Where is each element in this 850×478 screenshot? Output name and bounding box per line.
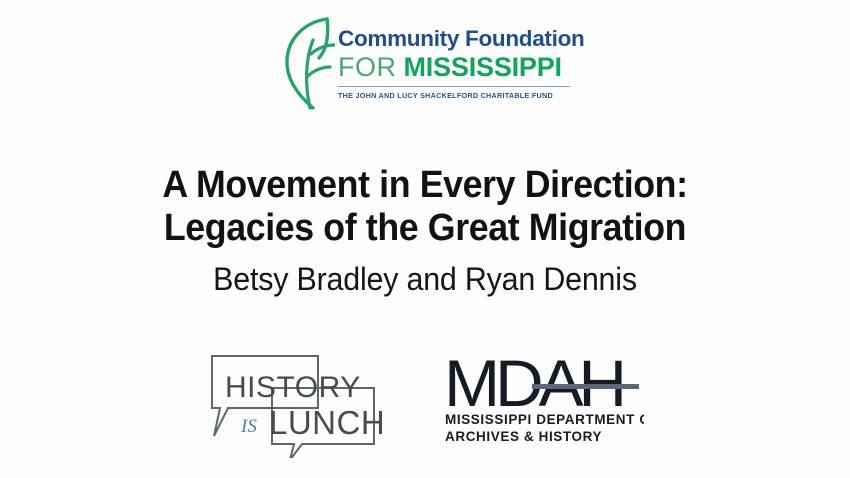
mdah-subtitle-line-2: ARCHIVES & HISTORY bbox=[445, 429, 602, 444]
sponsor-name-line1: Community Foundation bbox=[338, 28, 584, 51]
presentation-slide: Community Foundation FOR MISSISSIPPI THE… bbox=[0, 0, 850, 478]
history-is-lunch-logo: HISTORY IS LUNCH bbox=[206, 348, 386, 458]
lunch-word: LUNCH bbox=[269, 404, 385, 441]
sponsor-divider bbox=[338, 86, 570, 87]
mdah-crossbar bbox=[532, 384, 639, 389]
history-word: HISTORY bbox=[225, 371, 361, 404]
sponsor-for-word: FOR bbox=[338, 54, 397, 81]
is-word: IS bbox=[240, 416, 257, 437]
page-title-line-2: Legacies of the Great Migration bbox=[26, 207, 825, 250]
partner-logo-row: HISTORY IS LUNCH MDAH MISSISSIPPI DEPART… bbox=[0, 348, 850, 458]
mdah-subtitle-line-1: MISSISSIPPI DEPARTMENT OF bbox=[445, 412, 644, 427]
mdah-logo: MDAH MISSISSIPPI DEPARTMENT OF ARCHIVES … bbox=[444, 348, 644, 448]
title-block: A Movement in Every Direction: Legacies … bbox=[0, 164, 850, 298]
sponsor-state-word: MISSISSIPPI bbox=[404, 54, 562, 81]
sponsor-name-line2: FOR MISSISSIPPI bbox=[338, 54, 584, 81]
page-title-line-1: A Movement in Every Direction: bbox=[26, 164, 825, 207]
leaf-icon bbox=[283, 16, 335, 112]
presenters-line: Betsy Bradley and Ryan Dennis bbox=[21, 261, 829, 298]
sponsor-logo-text: Community Foundation FOR MISSISSIPPI THE… bbox=[338, 16, 584, 100]
sponsor-tagline: THE JOHN AND LUCY SHACKELFORD CHARITABLE… bbox=[338, 91, 584, 100]
sponsor-logo: Community Foundation FOR MISSISSIPPI THE… bbox=[283, 16, 561, 112]
